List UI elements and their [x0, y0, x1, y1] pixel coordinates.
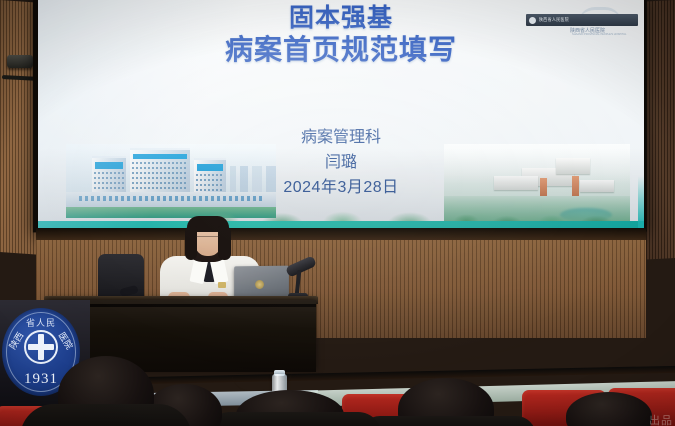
- banner-name-en: SHAANXI PROVINCIAL PEOPLE'S HOSPITAL: [572, 33, 626, 36]
- lecture-hall-photo: 固本强基 病案首页规范填写 病案管理科 闫璐 2024年3月28日 陕西省人民医…: [0, 0, 675, 426]
- slide-accent-edge: [638, 176, 644, 228]
- aerial-building-4: [580, 180, 614, 192]
- projection-screen: 固本强基 病案首页规范填写 病案管理科 闫璐 2024年3月28日 陕西省人民医…: [38, 0, 644, 228]
- aerial-tree-canopy: [444, 196, 630, 224]
- hospital-campus-aerial-photo: [444, 144, 630, 224]
- aerial-tower-accent-1: [540, 178, 547, 196]
- emblem-name-top: 省人民: [2, 316, 80, 329]
- banner-logo-icon: [529, 17, 536, 24]
- photo-tower-right-sign: [197, 164, 223, 171]
- presenter-badge: [218, 282, 226, 288]
- presenter-hair-left: [185, 226, 197, 260]
- aerial-building-3: [494, 176, 538, 190]
- wall-speaker-icon: [7, 55, 33, 68]
- audience-shoulders: [20, 404, 192, 426]
- banner-name-cn: 陕西省人民医院: [539, 17, 569, 24]
- presenter-hair-right: [218, 226, 231, 260]
- laptop-logo-icon: [255, 280, 264, 289]
- screen-bottom-shadow: [36, 228, 646, 240]
- audience-shoulders: [360, 416, 536, 426]
- photo-tower-sign: [95, 162, 123, 169]
- slide-image-band: [38, 142, 644, 228]
- photo-watermark: 出品: [649, 412, 673, 426]
- slide-accent-bar: [38, 221, 644, 228]
- aerial-tower-accent-2: [572, 176, 579, 196]
- photo-tower-center-sign: [133, 154, 187, 159]
- cross-horizontal: [28, 344, 54, 350]
- presenter-glasses: [196, 236, 220, 243]
- slide-hospital-banner: 陕西省人民医院 陕西省人民医院 SHAANXI PROVINCIAL PEOPL…: [526, 6, 638, 36]
- slide-title-line2: 病案首页规范填写: [38, 34, 644, 66]
- aerial-building-2: [556, 158, 590, 174]
- audience-shoulders: [206, 412, 382, 426]
- banner-bar: 陕西省人民医院: [526, 14, 638, 26]
